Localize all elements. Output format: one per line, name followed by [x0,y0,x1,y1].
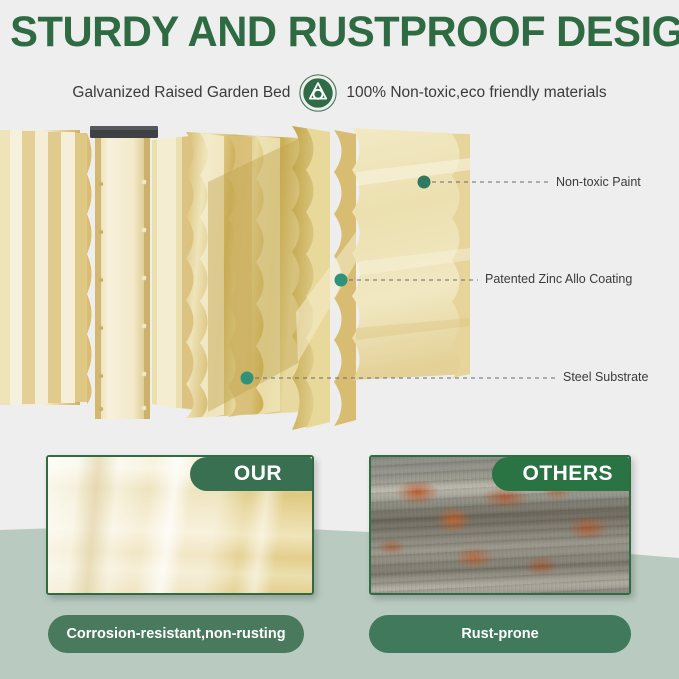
subtitle-left: Galvanized Raised Garden Bed [72,84,290,102]
callout-dot-paint [418,176,431,189]
subtitle-row: Galvanized Raised Garden Bed 100% Non-to… [0,74,679,112]
wavy-panel-stack [186,126,470,430]
corner-post [90,126,158,419]
our-product-photo: OUR [46,455,314,595]
callout-label-steel-substrate: Steel Substrate [563,370,648,384]
callout-label-zinc-coating: Patented Zinc Allo Coating [485,272,632,286]
badge-our: OUR [190,457,312,491]
comparison-card-others: OTHERS Rust-prone [369,455,631,653]
callout-dot-steel [241,372,254,385]
others-product-photo: OTHERS [369,455,631,595]
page-title: STURDY AND RUSTPROOF DESIGN [10,8,669,57]
callout-dot-zinc [335,274,348,287]
callout-label-non-toxic-paint: Non-toxic Paint [556,175,641,189]
eco-leaf-circle-icon [299,74,337,112]
comparison-card-our: OUR Corrosion-resistant,non-rusting [46,455,314,653]
badge-others: OTHERS [492,457,629,491]
caption-our: Corrosion-resistant,non-rusting [48,615,304,653]
subtitle-right: 100% Non-toxic,eco friendly materials [346,84,606,102]
infographic-page: STURDY AND RUSTPROOF DESIGN Galvanized R… [0,0,679,679]
caption-others: Rust-prone [369,615,631,653]
left-corrugated-wall [0,130,92,405]
